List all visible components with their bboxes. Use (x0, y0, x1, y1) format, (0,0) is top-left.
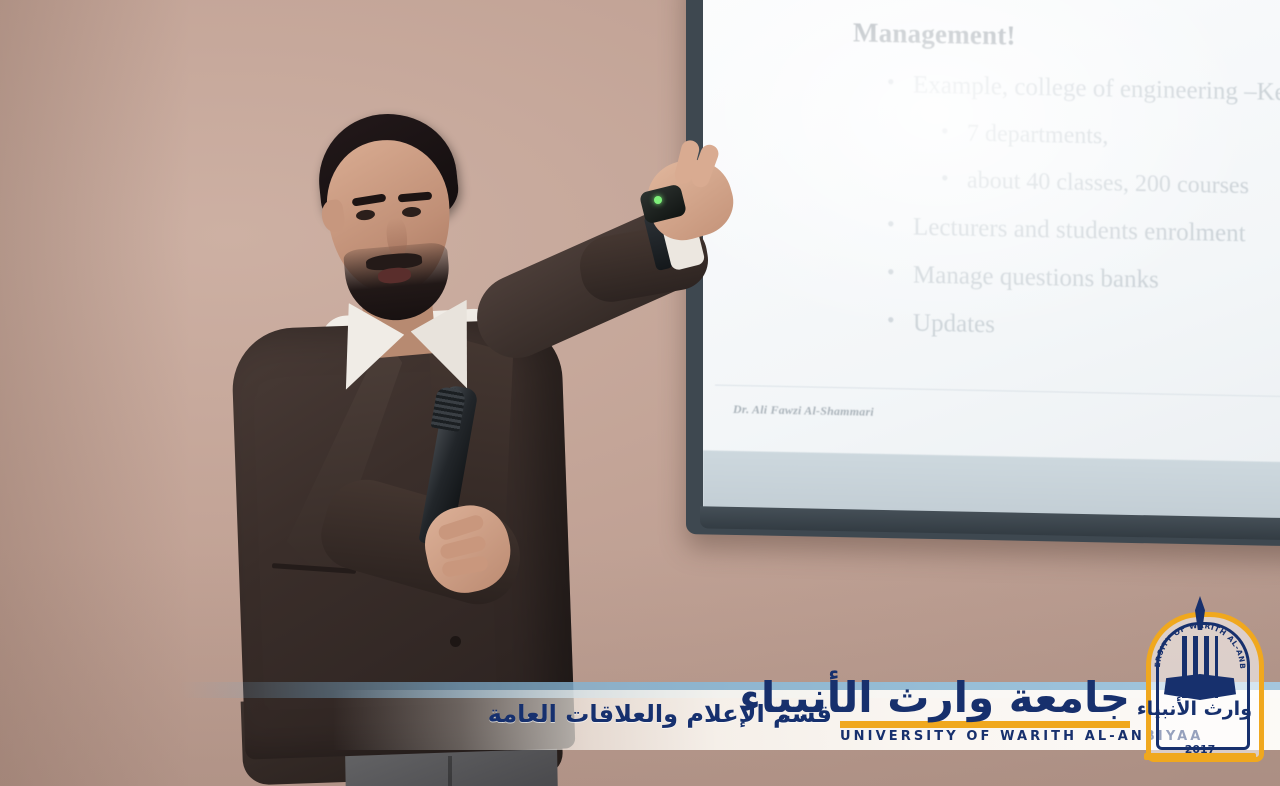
trouser-seam (448, 756, 452, 786)
projection-surface: Management! Example, college of engineer… (703, 0, 1280, 522)
presenter-figure (150, 96, 710, 786)
slide-bullet: Updates (879, 309, 1280, 347)
slide-presenter-credit: Dr. Ali Fawzi Al-Shammari (733, 402, 874, 420)
crest-base-bar (1144, 753, 1256, 760)
jacket-button (450, 636, 461, 647)
wordmark-arabic: جامعة وارث الأنبياء (840, 677, 1130, 719)
slide-bullet-list: Example, college of engineering –Ke 7 de… (821, 70, 1280, 347)
university-wordmark: جامعة وارث الأنبياء UNIVERSITY OF WARITH… (840, 677, 1130, 744)
photo-canvas: Management! Example, college of engineer… (0, 0, 1280, 786)
slide-bullet: 7 departments, (933, 120, 1280, 156)
whiteboard-frame: Management! Example, college of engineer… (686, 0, 1280, 547)
wordmark-gold-rule (840, 721, 1130, 728)
university-crest-logo: وارث الأنبياء 2017 UNIVERSITY OF WARITH … (1138, 600, 1262, 760)
slide-bullet: about 40 classes, 200 courses (933, 167, 1280, 203)
slide-bullet: Manage questions banks (879, 261, 1280, 299)
wordmark-english: UNIVERSITY OF WARITH AL-ANBIYAA (840, 729, 1130, 744)
slide-bullet: Lecturers and students enrolment (879, 213, 1280, 251)
clicker-led-indicator (654, 196, 662, 204)
presentation-slide: Management! Example, college of engineer… (703, 0, 1280, 522)
slide-divider (715, 385, 1280, 398)
crest-arabic-text: وارث الأنبياء (1148, 700, 1252, 720)
slide-bullet: Example, college of engineering –Ke (879, 71, 1280, 109)
slide-title: Management! (853, 17, 1280, 58)
